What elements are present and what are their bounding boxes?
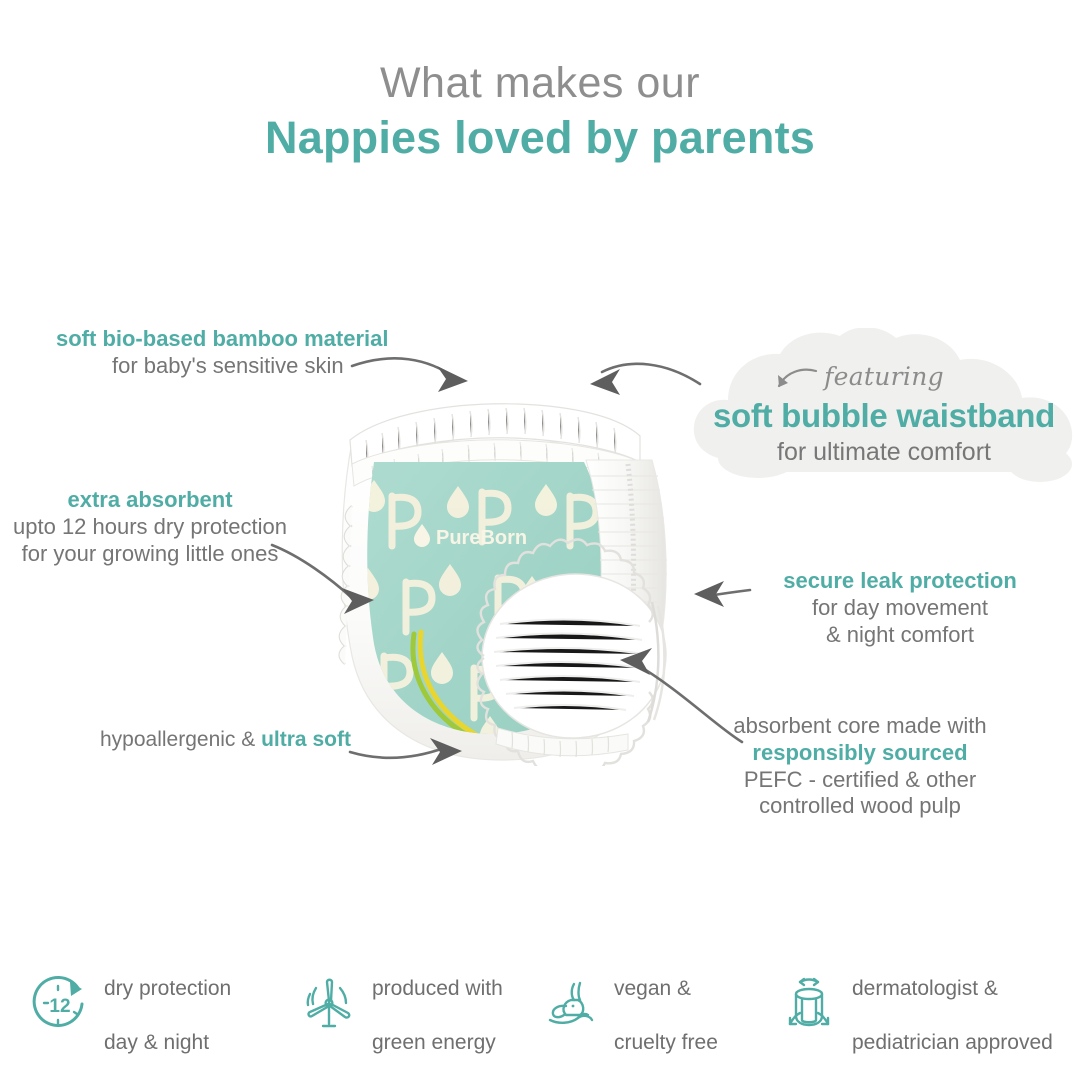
label-bamboo-highlight: soft bio-based bamboo material bbox=[56, 326, 456, 353]
feature-badge-row: 12 dry protection day & night bbox=[0, 958, 1080, 1058]
cloud-callout: featuring soft bubble waistband for ulti… bbox=[688, 328, 1080, 488]
diaper-product-image: PureBorn bbox=[322, 356, 722, 766]
badge-clock-value: 12 bbox=[49, 996, 70, 1017]
wind-turbine-icon bbox=[298, 972, 360, 1034]
label-leak-sub-2: & night comfort bbox=[750, 622, 1050, 649]
label-hypo-highlight: ultra soft bbox=[261, 728, 351, 751]
label-leak-highlight: secure leak protection bbox=[750, 568, 1050, 595]
badge-3-line-2: cruelty free bbox=[614, 1031, 718, 1054]
badge-vegan-text: vegan & cruelty free bbox=[614, 949, 718, 1057]
cloud-headline: soft bubble waistband bbox=[688, 397, 1080, 435]
label-core-sub-1: absorbent core made with bbox=[660, 713, 1060, 740]
badge-2-line-1: produced with bbox=[372, 977, 503, 1000]
badge-2-line-2: green energy bbox=[372, 1031, 496, 1054]
label-bamboo-sub: for baby's sensitive skin bbox=[56, 353, 456, 380]
label-absorbent-sub-2: for your growing little ones bbox=[0, 541, 300, 568]
badge-dermatologist-text: dermatologist & pediatrician approved bbox=[852, 949, 1053, 1057]
cloud-featuring-text: featuring bbox=[688, 362, 1080, 391]
badge-dry-protection-text: dry protection day & night bbox=[104, 949, 231, 1057]
label-hypoallergenic: hypoallergenic & ultra soft bbox=[100, 727, 360, 753]
infographic-canvas: What makes our Nappies loved by parents bbox=[0, 0, 1080, 1080]
badge-1-line-1: dry protection bbox=[104, 977, 231, 1000]
label-absorbent-highlight: extra absorbent bbox=[0, 487, 300, 514]
clock-12-hours-icon: 12 bbox=[30, 972, 92, 1034]
badge-vegan-cruelty-free: vegan & cruelty free bbox=[540, 958, 750, 1048]
page-title: What makes our Nappies loved by parents bbox=[0, 62, 1080, 160]
label-leak-sub-1: for day movement bbox=[750, 595, 1050, 622]
badge-green-energy: produced with green energy bbox=[298, 958, 528, 1048]
badge-4-line-1: dermatologist & bbox=[852, 977, 998, 1000]
badge-3-line-1: vegan & bbox=[614, 977, 691, 1000]
headline-line-1: What makes our bbox=[0, 62, 1080, 105]
badge-dermatologist-approved: dermatologist & pediatrician approved bbox=[778, 958, 1078, 1048]
label-core-sub-2: PEFC - certified & other bbox=[660, 767, 1060, 794]
label-absorbent-sub-1: upto 12 hours dry protection bbox=[0, 514, 300, 541]
diaper-illustration: PureBorn bbox=[322, 356, 722, 766]
rabbit-in-hand-icon bbox=[540, 972, 602, 1034]
stretchy-diaper-icon bbox=[778, 972, 840, 1034]
badge-4-line-2: pediatrician approved bbox=[852, 1031, 1053, 1054]
label-absorbent: extra absorbent upto 12 hours dry protec… bbox=[0, 487, 300, 567]
cloud-text-block: featuring soft bubble waistband for ulti… bbox=[688, 328, 1080, 488]
badge-dry-protection: 12 dry protection day & night bbox=[30, 958, 280, 1048]
brand-name: PureBorn bbox=[436, 527, 527, 549]
label-core-highlight: responsibly sourced bbox=[660, 740, 1060, 767]
cloud-subtext: for ultimate comfort bbox=[688, 438, 1080, 467]
label-hypo-sub: hypoallergenic & bbox=[100, 728, 261, 751]
label-bamboo: soft bio-based bamboo material for baby'… bbox=[56, 326, 456, 380]
badge-green-energy-text: produced with green energy bbox=[372, 949, 503, 1057]
headline-line-2: Nappies loved by parents bbox=[0, 115, 1080, 160]
badge-1-line-2: day & night bbox=[104, 1031, 209, 1054]
label-leak-protection: secure leak protection for day movement … bbox=[750, 568, 1050, 648]
label-core-sub-3: controlled wood pulp bbox=[660, 793, 1060, 820]
label-absorbent-core: absorbent core made with responsibly sou… bbox=[660, 713, 1060, 820]
